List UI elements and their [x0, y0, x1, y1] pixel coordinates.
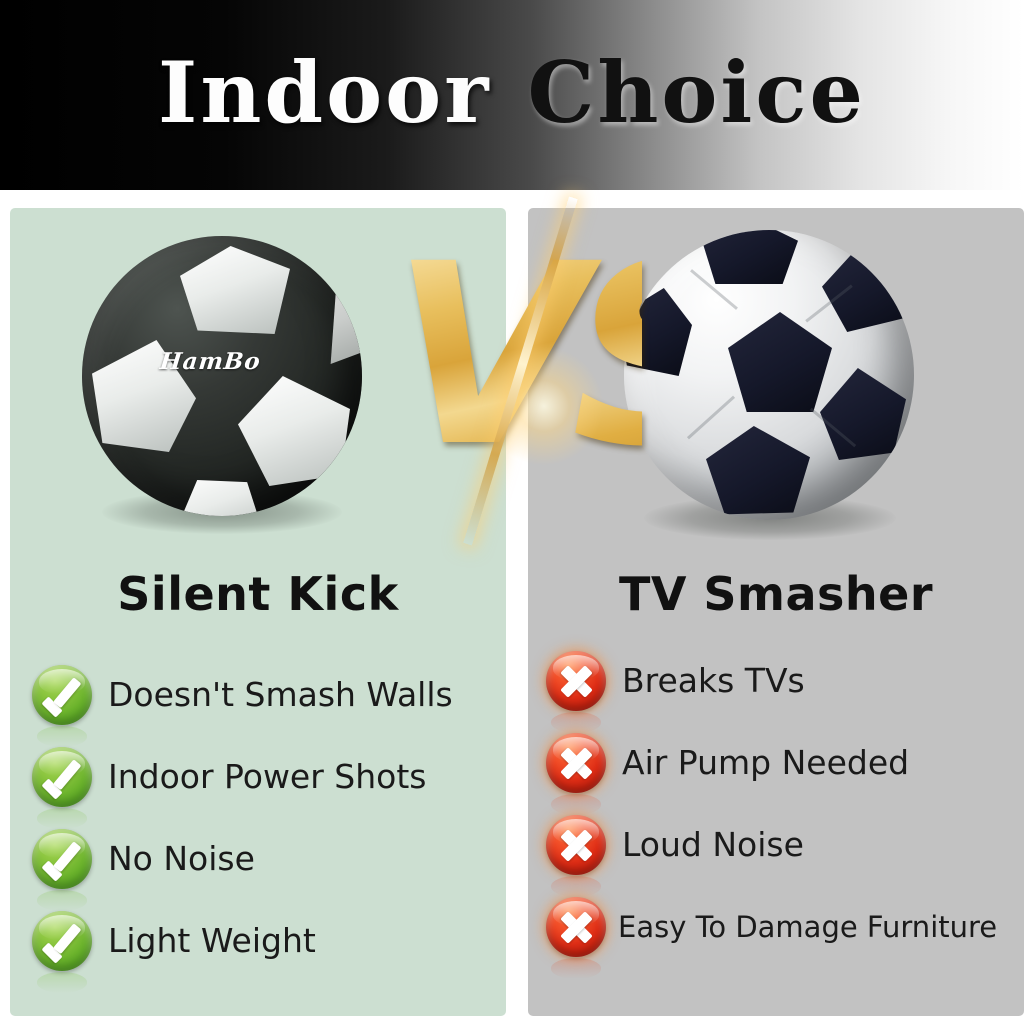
- check-glyph: [32, 829, 92, 889]
- badge-reflection: [551, 794, 601, 814]
- feature-label: Light Weight: [108, 922, 316, 960]
- ball-patch: [328, 278, 362, 364]
- check-stroke: [53, 923, 81, 954]
- comparison-infographic: IndoorChoice HamBo Silent Kick: [0, 0, 1024, 1024]
- badge-reflection: [37, 890, 87, 910]
- cross-glyph: [546, 651, 606, 711]
- title-word-choice: Choice: [527, 43, 865, 142]
- left-product-title: Silent Kick: [10, 566, 506, 622]
- right-product-title: TV Smasher: [528, 566, 1024, 622]
- cross-glyph: [546, 815, 606, 875]
- feature-label: No Noise: [108, 840, 255, 878]
- ball-patch: [624, 288, 692, 376]
- list-item: Light Weight: [10, 900, 506, 982]
- ball-patch: [706, 426, 810, 518]
- feature-label: Easy To Damage Furniture: [618, 908, 997, 946]
- ball-patch: [180, 246, 290, 334]
- check-icon: [32, 665, 92, 725]
- badge-reflection: [37, 808, 87, 828]
- check-icon: [32, 747, 92, 807]
- feature-label: Doesn't Smash Walls: [108, 676, 453, 714]
- right-feature-list: Breaks TVs Air Pump Needed: [528, 640, 1024, 968]
- panel-silent-kick: HamBo Silent Kick Doesn't Smash Walls: [10, 208, 506, 1016]
- ball-patch: [238, 376, 350, 486]
- cross-glyph: [546, 897, 606, 957]
- list-item: Breaks TVs: [528, 640, 1024, 722]
- check-stroke: [53, 677, 81, 708]
- feature-label: Air Pump Needed: [622, 744, 909, 782]
- check-glyph: [32, 747, 92, 807]
- title-word-indoor: Indoor: [158, 43, 491, 142]
- list-item: Easy To Damage Furniture: [528, 886, 1024, 968]
- feature-label: Breaks TVs: [622, 662, 805, 700]
- list-item: Doesn't Smash Walls: [10, 654, 506, 736]
- check-stroke: [53, 759, 81, 790]
- left-feature-list: Doesn't Smash Walls Indoor Power Shots: [10, 654, 506, 982]
- panel-tv-smasher: TV Smasher Breaks TVs: [528, 208, 1024, 1016]
- badge-reflection: [551, 958, 601, 978]
- cross-glyph: [546, 733, 606, 793]
- check-glyph: [32, 665, 92, 725]
- cross-icon: [546, 897, 606, 957]
- cross-icon: [546, 651, 606, 711]
- ball-patch: [728, 312, 832, 412]
- badge-reflection: [551, 712, 601, 732]
- header-banner: IndoorChoice: [0, 0, 1024, 190]
- feature-label: Indoor Power Shots: [108, 758, 426, 796]
- classic-soccer-ball-icon: [624, 230, 914, 520]
- left-ball-stage: HamBo: [10, 218, 506, 548]
- check-stroke: [53, 841, 81, 872]
- check-glyph: [32, 911, 92, 971]
- list-item: Indoor Power Shots: [10, 736, 506, 818]
- check-icon: [32, 911, 92, 971]
- badge-reflection: [37, 972, 87, 992]
- right-ball-stage: [528, 218, 1024, 548]
- ball-patch: [702, 230, 798, 284]
- page-title: IndoorChoice: [0, 48, 1024, 138]
- list-item: No Noise: [10, 818, 506, 900]
- feature-label: Loud Noise: [622, 826, 804, 864]
- foam-soccer-ball-icon: HamBo: [82, 236, 362, 516]
- badge-reflection: [37, 726, 87, 746]
- badge-reflection: [551, 876, 601, 896]
- cross-icon: [546, 733, 606, 793]
- ball-patch: [820, 368, 906, 460]
- list-item: Loud Noise: [528, 804, 1024, 886]
- list-item: Air Pump Needed: [528, 722, 1024, 804]
- ball-patch: [822, 248, 906, 332]
- ball-brand-label: HamBo: [159, 348, 263, 375]
- ball-seam: [687, 396, 735, 440]
- check-icon: [32, 829, 92, 889]
- cross-icon: [546, 815, 606, 875]
